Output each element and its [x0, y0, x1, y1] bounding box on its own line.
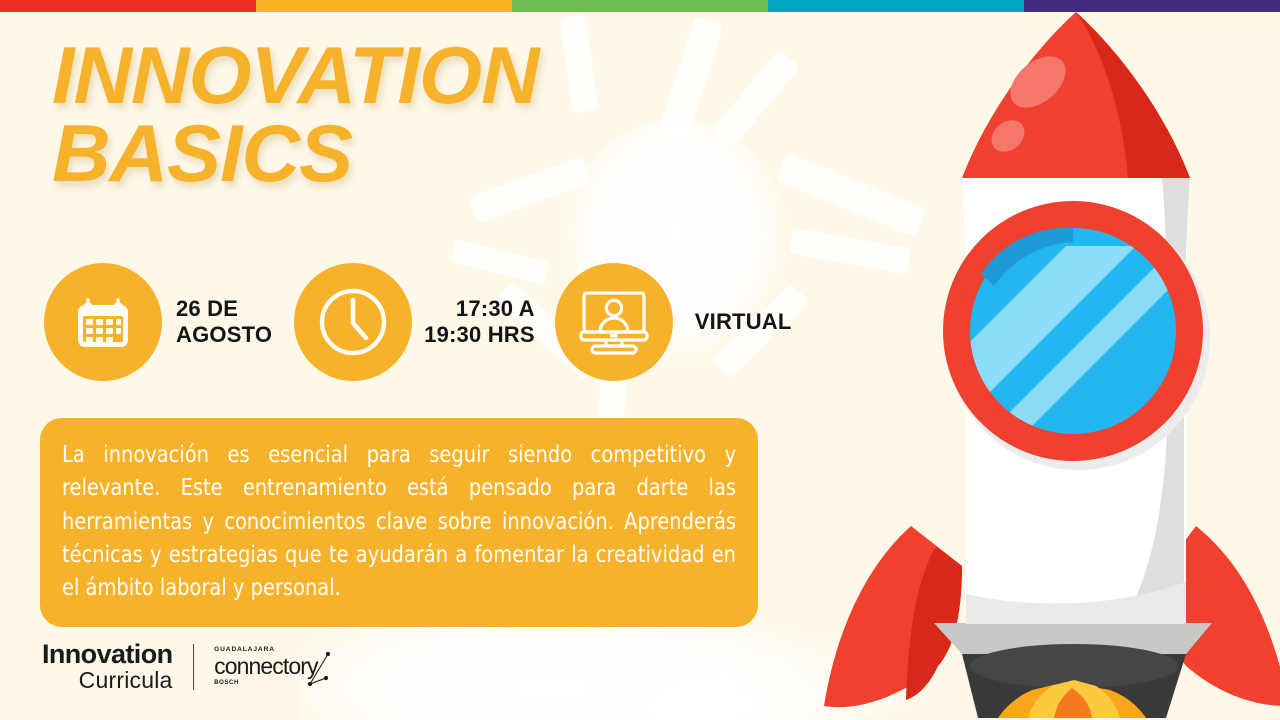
calendar-badge-circle: [44, 263, 162, 381]
poster-canvas: INNOVATION BASICS: [0, 0, 1280, 720]
calendar-icon: [72, 291, 134, 353]
headline-line-1: INNOVATION: [52, 38, 538, 116]
topbar-segment-green: [512, 0, 768, 12]
headline-line-2: BASICS: [52, 116, 538, 194]
light-ray: [658, 16, 724, 139]
clock-badge-circle: [294, 263, 412, 381]
webinar-monitor-icon: [578, 287, 650, 357]
connectory-bosch-byline: BOSCH: [214, 680, 318, 686]
connectory-logo: GUADALAJARA connectory BOSCH: [214, 647, 318, 686]
topbar-segment-yellow: [256, 0, 512, 12]
innovation-curricula-logo: Innovation Curricula: [42, 641, 173, 692]
event-info-time: 17:30 A 19:30 HRS: [294, 263, 535, 381]
description-panel: La innovación es esencial para seguir si…: [40, 418, 758, 627]
event-info-date: 26 DE AGOSTO: [44, 263, 272, 381]
description-text: La innovación es esencial para seguir si…: [62, 438, 736, 605]
logo-divider: [193, 644, 195, 690]
event-modality-label: VIRTUAL: [695, 309, 792, 335]
event-date-label: 26 DE AGOSTO: [176, 296, 272, 347]
rocket-illustration: [766, 6, 1280, 720]
event-info-modality: VIRTUAL: [555, 263, 792, 381]
event-info-row: 26 DE AGOSTO 17:30 A 19:30 HRS: [44, 263, 792, 381]
event-time-label: 17:30 A 19:30 HRS: [424, 296, 535, 347]
connectory-network-icon: [304, 651, 334, 687]
innovation-curricula-line-1: Innovation: [42, 641, 173, 668]
innovation-curricula-line-2: Curricula: [42, 669, 173, 692]
clock-icon: [314, 283, 392, 361]
topbar-segment-purple: [1024, 0, 1280, 12]
top-color-bar: [0, 0, 1280, 12]
footer-logos: Innovation Curricula GUADALAJARA connect…: [42, 641, 318, 692]
light-ray: [559, 15, 598, 114]
page-title: INNOVATION BASICS: [52, 38, 538, 194]
connectory-wordmark: connectory: [214, 655, 318, 678]
topbar-segment-teal: [768, 0, 1024, 12]
topbar-segment-red: [0, 0, 256, 12]
webinar-badge-circle: [555, 263, 673, 381]
